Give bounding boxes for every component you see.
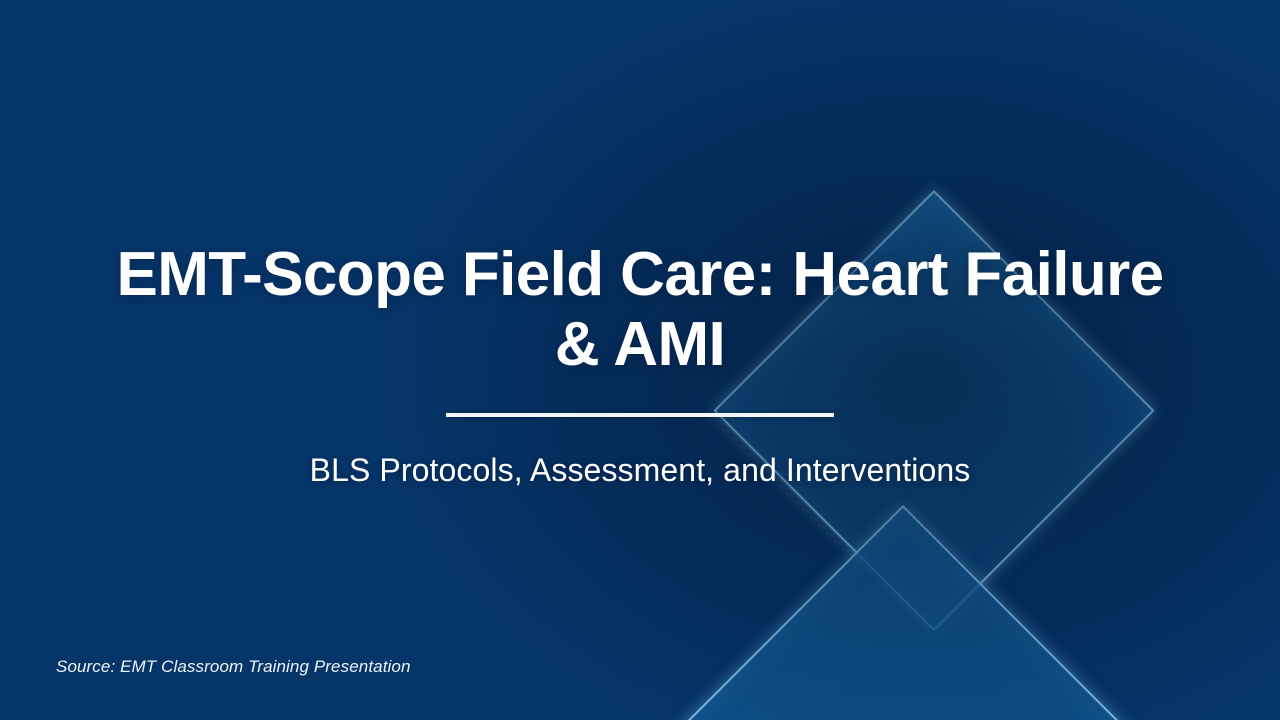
- title-divider: [446, 413, 834, 417]
- title-slide: EMT-Scope Field Care: Heart Failure & AM…: [0, 0, 1280, 720]
- slide-title: EMT-Scope Field Care: Heart Failure & AM…: [100, 240, 1180, 380]
- slide-subtitle: BLS Protocols, Assessment, and Intervent…: [140, 450, 1140, 490]
- source-caption: Source: EMT Classroom Training Presentat…: [56, 655, 411, 679]
- slide-content: EMT-Scope Field Care: Heart Failure & AM…: [0, 0, 1280, 720]
